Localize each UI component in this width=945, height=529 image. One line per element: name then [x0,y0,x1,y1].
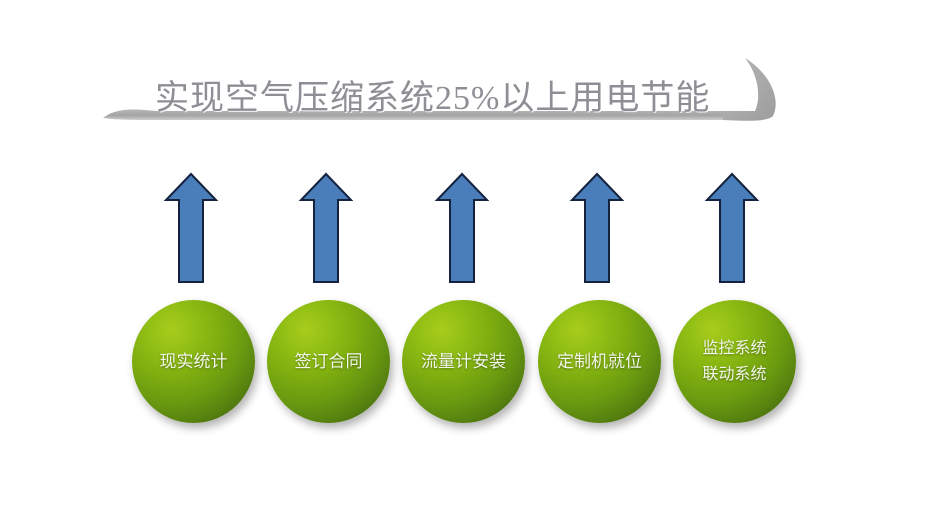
up-arrow-shape [704,170,760,286]
process-circle-label: 监控系统 联动系统 [698,336,770,388]
up-arrow-icon-1 [163,170,219,286]
process-circle-4[interactable]: 定制机就位 [538,300,661,423]
up-arrow-shape [298,170,354,286]
arrows-row [0,170,945,290]
up-arrow-shape [163,170,219,286]
up-arrow-shape [569,170,625,286]
process-circle-1[interactable]: 现实统计 [132,300,255,423]
process-circle-5[interactable]: 监控系统 联动系统 [673,300,796,423]
process-circle-label: 签订合同 [291,350,367,373]
up-arrow-icon-4 [569,170,625,286]
up-arrow-icon-3 [434,170,490,286]
process-circle-2[interactable]: 签订合同 [267,300,390,423]
title-banner: 实现空气压缩系统25%以上用电节能 [95,30,795,130]
process-circle-label: 现实统计 [156,350,232,373]
process-circle-3[interactable]: 流量计安装 [402,300,525,423]
up-arrow-shape [434,170,490,286]
slide-canvas: 实现空气压缩系统25%以上用电节能 [0,0,945,529]
up-arrow-icon-2 [298,170,354,286]
up-arrow-icon-5 [704,170,760,286]
page-title: 实现空气压缩系统25%以上用电节能 [155,74,745,124]
process-circles-row: 现实统计 签订合同 流量计安装 定制机就位 监控系统 联动系统 [0,300,945,440]
process-circle-label: 定制机就位 [553,350,646,373]
process-circle-label: 流量计安装 [417,350,510,373]
